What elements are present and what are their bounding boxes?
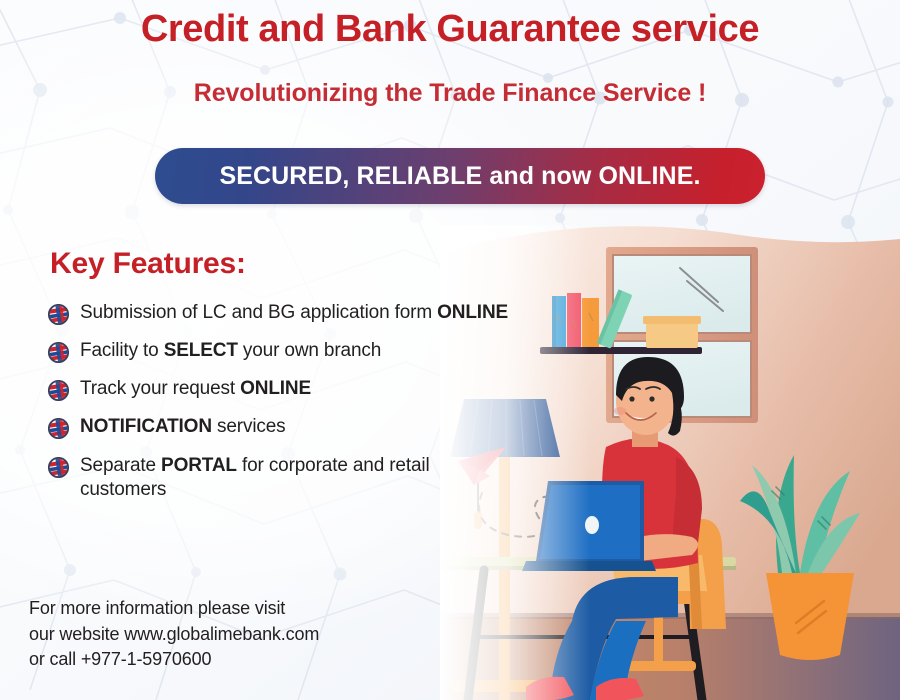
list-item-label: Track your request ONLINE <box>80 377 311 401</box>
list-item-label: Facility to SELECT your own branch <box>80 339 381 363</box>
page-title: Credit and Bank Guarantee service <box>0 8 900 51</box>
page-subtitle: Revolutionizing the Trade Finance Servic… <box>0 79 900 108</box>
contact-phone-line[interactable]: or call +977-1-5970600 <box>29 647 319 673</box>
tagline-banner: SECURED, RELIABLE and now ONLINE. <box>155 148 765 204</box>
globe-logo-icon <box>48 380 69 401</box>
list-item-label: Separate PORTAL for corporate and retail… <box>80 454 518 502</box>
list-item-label: Submission of LC and BG application form… <box>80 301 508 325</box>
globe-logo-icon <box>48 418 69 439</box>
contact-line-1: For more information please visit <box>29 596 319 622</box>
list-item: Submission of LC and BG application form… <box>48 301 518 325</box>
globe-logo-icon <box>48 342 69 363</box>
key-features-list: Submission of LC and BG application form… <box>48 301 518 516</box>
list-item: Track your request ONLINE <box>48 377 518 401</box>
list-item: NOTIFICATION services <box>48 415 518 439</box>
tagline-banner-text: SECURED, RELIABLE and now ONLINE. <box>219 162 700 191</box>
list-item: Separate PORTAL for corporate and retail… <box>48 454 518 502</box>
globe-logo-icon <box>48 304 69 325</box>
contact-info: For more information please visit our we… <box>29 596 319 673</box>
poster-root: Credit and Bank Guarantee service Revolu… <box>0 0 900 700</box>
list-item: Facility to SELECT your own branch <box>48 339 518 363</box>
key-features-heading: Key Features: <box>50 247 246 281</box>
content-layer: Credit and Bank Guarantee service Revolu… <box>0 0 900 700</box>
list-item-label: NOTIFICATION services <box>80 415 286 439</box>
contact-website-line[interactable]: our website www.globalimebank.com <box>29 622 319 648</box>
globe-logo-icon <box>48 457 69 478</box>
